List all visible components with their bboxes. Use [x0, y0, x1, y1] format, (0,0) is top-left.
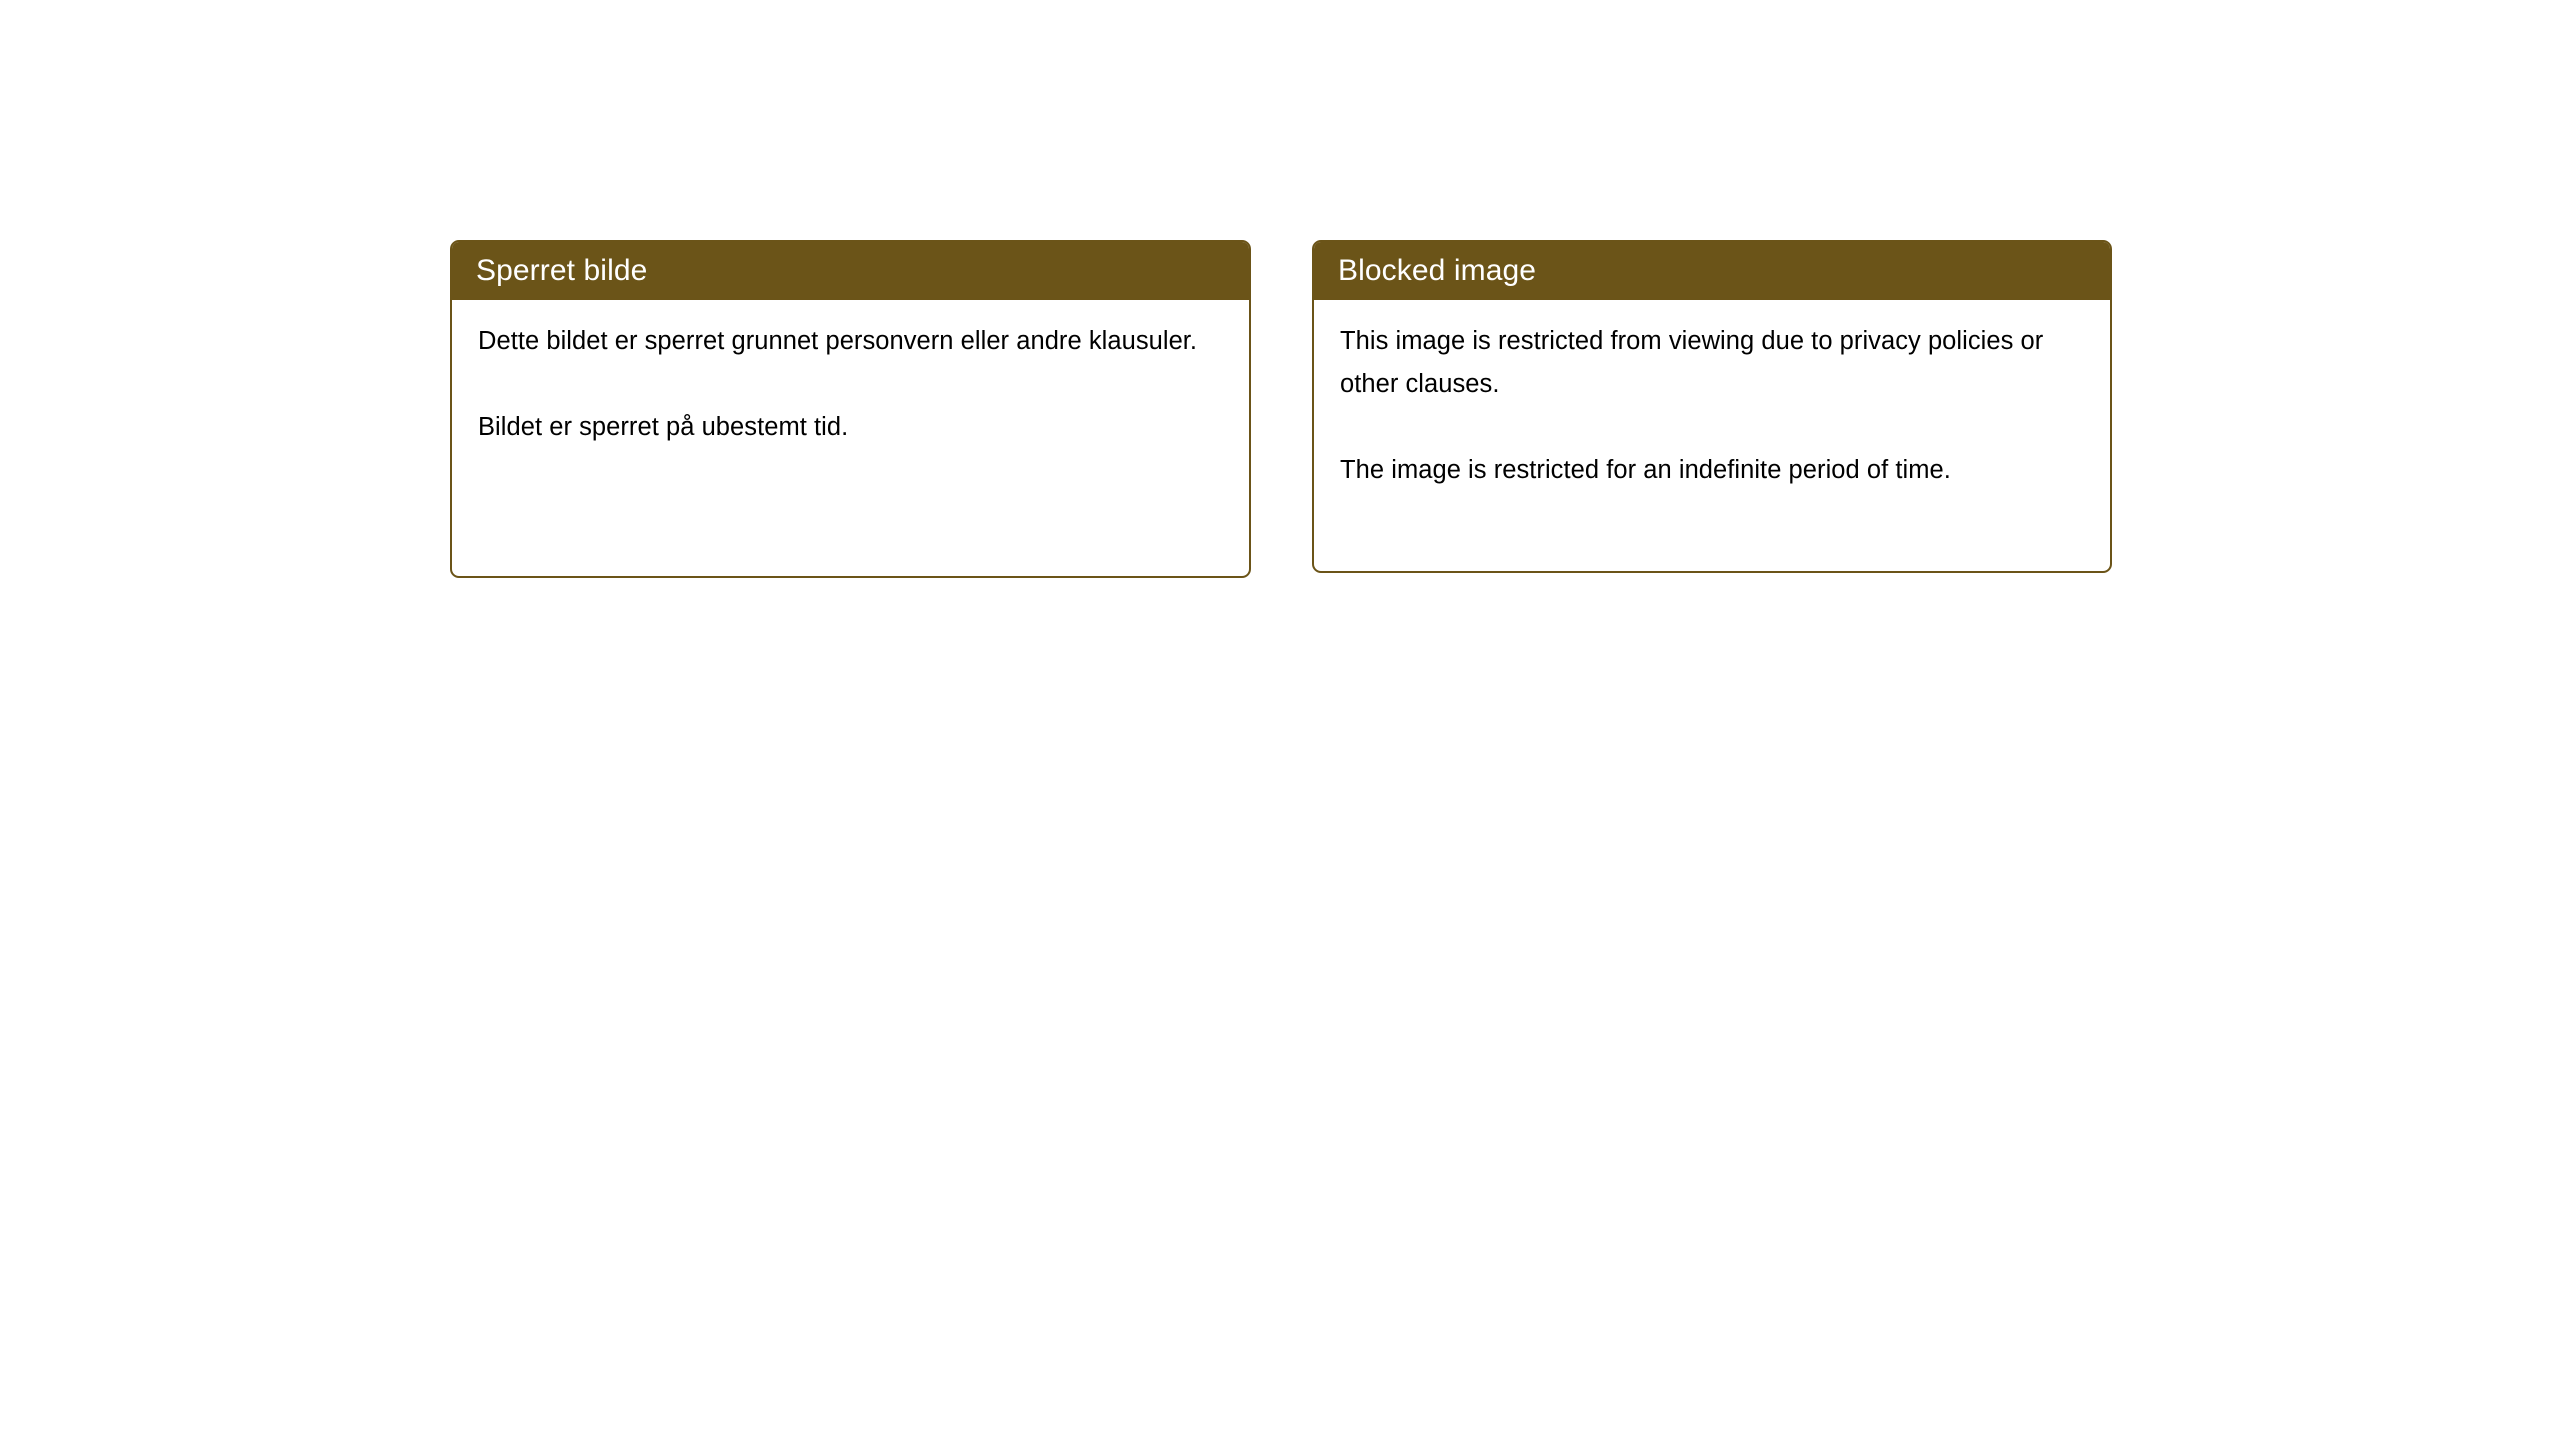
paragraph-spacer-english: [1340, 406, 2084, 449]
panel-body-english: This image is restricted from viewing du…: [1314, 300, 2110, 492]
notice-paragraph-secondary-english: The image is restricted for an indefinit…: [1340, 449, 2084, 492]
blocked-image-notice-norwegian: Sperret bilde Dette bildet er sperret gr…: [450, 240, 1251, 578]
panel-body-norwegian: Dette bildet er sperret grunnet personve…: [452, 300, 1249, 449]
panel-title-norwegian: Sperret bilde: [476, 256, 647, 286]
notice-paragraph-primary-english: This image is restricted from viewing du…: [1340, 320, 2084, 406]
panel-header-english: Blocked image: [1314, 242, 2110, 300]
panel-title-english: Blocked image: [1338, 256, 1536, 286]
notice-paragraph-secondary-norwegian: Bildet er sperret på ubestemt tid.: [478, 406, 1223, 449]
blocked-image-notice-english: Blocked image This image is restricted f…: [1312, 240, 2112, 573]
paragraph-spacer-norwegian: [478, 363, 1223, 406]
notice-paragraph-primary-norwegian: Dette bildet er sperret grunnet personve…: [478, 320, 1223, 363]
panel-header-norwegian: Sperret bilde: [452, 242, 1249, 300]
